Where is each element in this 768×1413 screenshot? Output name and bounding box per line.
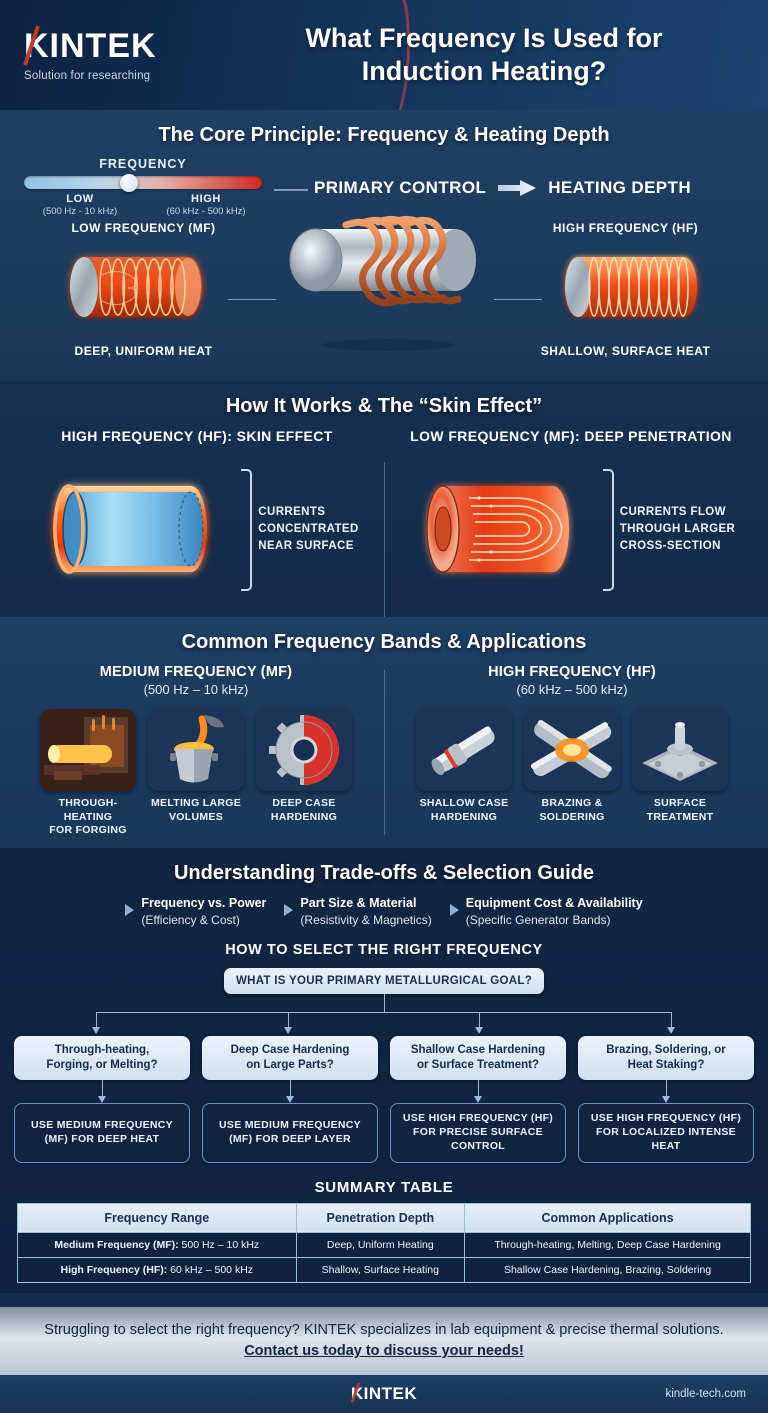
hf-brace-icon (241, 469, 252, 591)
section-frequency-bands: Common Frequency Bands & Applications ME… (0, 617, 768, 848)
table-cell-frequency-range: High Frequency (HF): 60 kHz – 500 kHz (18, 1257, 297, 1282)
low-frequency-billet-icon (56, 235, 231, 335)
decision-answer-node[interactable]: USE MEDIUM FREQUENCY (MF) FOR DEEP HEAT (14, 1103, 190, 1163)
tradeoff-item: Part Size & Material (Resistivity & Magn… (284, 895, 431, 928)
tile-caption: BRAZING & SOLDERING (524, 797, 620, 824)
table-col-common-applications: Common Applications (465, 1203, 751, 1232)
hf-cylinder-icon (35, 462, 235, 597)
frequency-slider-knob[interactable] (120, 174, 138, 192)
frequency-slider-endlabels: LOW (500 Hz - 10 kHz) HIGH (60 kHz - 500… (18, 193, 268, 217)
decision-arrow-cell (390, 1080, 566, 1097)
coil-illustration-row: LOW FREQUENCY (MF) (0, 221, 768, 371)
table-cell-depth: Shallow, Surface Heating (296, 1257, 465, 1282)
tradeoff-sub: (Efficiency & Cost) (141, 912, 266, 928)
induction-coil-icon (268, 207, 500, 357)
table-cell-frequency-range: Medium Frequency (MF): 500 Hz – 10 kHz (18, 1232, 297, 1257)
tree-drop-arrow (288, 1013, 289, 1028)
tree-drop-arrow (96, 1013, 97, 1028)
tile-caption: DEEP CASE HARDENING (256, 797, 352, 824)
skin-effect-mf-body: CURRENTS FLOW THROUGH LARGER CROSS-SECTI… (384, 452, 758, 607)
band-mf: MEDIUM FREQUENCY (MF) (500 Hz – 10 kHz) (8, 664, 384, 838)
decision-arrow-row (14, 1080, 754, 1097)
down-arrow-icon (290, 1080, 291, 1097)
heating-depth-label: HEATING DEPTH (548, 178, 691, 198)
tile-shallow-case-hardening[interactable]: SHALLOW CASE HARDENING (416, 709, 512, 824)
tile-caption: SURFACE TREATMENT (632, 797, 728, 824)
tradeoff-sub: (Resistivity & Magnetics) (300, 912, 431, 928)
page-title-line1: What Frequency Is Used for (305, 23, 662, 53)
page-title-line2: Induction Heating? (362, 56, 606, 86)
bands-title: Common Frequency Bands & Applications (0, 631, 768, 654)
tradeoff-title: Frequency vs. Power (141, 895, 266, 912)
cta-banner: Struggling to select the right frequency… (0, 1307, 768, 1375)
primary-control-label: PRIMARY CONTROL (314, 178, 486, 198)
skin-effect-hf-body: CURRENTS CONCENTRATED NEAR SURFACE (10, 452, 384, 607)
frequency-low-end: LOW (500 Hz - 10 kHz) (20, 193, 140, 217)
brazing-joint-icon (524, 709, 620, 791)
skin-effect-title: How It Works & The “Skin Effect” (0, 395, 768, 418)
section-skin-effect: How It Works & The “Skin Effect” HIGH FR… (0, 381, 768, 617)
decision-answer-node[interactable]: USE HIGH FREQUENCY (HF) FOR LOCALIZED IN… (578, 1103, 754, 1163)
coil-link-line-right (494, 299, 542, 300)
decision-arrow-cell (202, 1080, 378, 1097)
surface-treatment-part-icon (632, 709, 728, 791)
logo-tagline: Solution for researching (24, 70, 224, 82)
band-hf-range: (60 kHz – 500 kHz) (384, 682, 760, 697)
control-connector-line (274, 189, 308, 191)
tradeoff-item: Equipment Cost & Availability (Specific … (450, 895, 643, 928)
shaft-hardening-icon (416, 709, 512, 791)
decision-answer-node[interactable]: USE MEDIUM FREQUENCY (MF) FOR DEEP LAYER (202, 1103, 378, 1163)
tile-brazing-soldering[interactable]: BRAZING & SOLDERING (524, 709, 620, 824)
decision-question-node[interactable]: Through-heating, Forging, or Melting? (14, 1036, 190, 1080)
tile-deep-case-hardening[interactable]: DEEP CASE HARDENING (256, 709, 352, 838)
decision-question-row: Through-heating, Forging, or Melting? De… (14, 1036, 754, 1080)
forging-furnace-icon (40, 709, 136, 791)
frequency-low-range: (500 Hz - 10 kHz) (20, 206, 140, 217)
section-core-principle: The Core Principle: Frequency & Heating … (0, 110, 768, 381)
molten-metal-pour-icon (148, 709, 244, 791)
high-frequency-billet: HIGH FREQUENCY (HF) (538, 221, 713, 358)
tile-surface-treatment[interactable]: SURFACE TREATMENT (632, 709, 728, 824)
decision-answer-row: USE MEDIUM FREQUENCY (MF) FOR DEEP HEAT … (14, 1103, 754, 1163)
row-label: High Frequency (HF): (60, 1264, 167, 1276)
bands-row: MEDIUM FREQUENCY (MF) (500 Hz – 10 kHz) (0, 664, 768, 838)
tradeoff-title: Part Size & Material (300, 895, 431, 912)
table-cell-apps: Shallow Case Hardening, Brazing, Solderi… (465, 1257, 751, 1282)
band-mf-range: (500 Hz – 10 kHz) (8, 682, 384, 697)
footer-logo-red-slash-icon (350, 1382, 361, 1403)
skin-effect-hf-column: HIGH FREQUENCY (HF): SKIN EFFECT (10, 428, 384, 607)
cta-link[interactable]: Contact us today to discuss your needs! (244, 1343, 524, 1359)
decision-arrow-cell (14, 1080, 190, 1097)
row-label: Medium Frequency (MF): (54, 1239, 178, 1251)
high-frequency-billet-caption: SHALLOW, SURFACE HEAT (538, 344, 713, 358)
decision-answer-node[interactable]: USE HIGH FREQUENCY (HF) FOR PRECISE SURF… (390, 1103, 566, 1163)
band-hf-tiles: SHALLOW CASE HARDENING BR (384, 709, 760, 824)
decision-question-node[interactable]: Deep Case Hardening on Large Parts? (202, 1036, 378, 1080)
bands-divider (384, 670, 385, 835)
page-footer: KINTEK kindle-tech.com (0, 1375, 768, 1413)
low-frequency-billet-caption: DEEP, UNIFORM HEAT (56, 344, 231, 358)
frequency-high-label: HIGH (146, 193, 266, 205)
table-col-frequency-range: Frequency Range (18, 1203, 297, 1232)
tile-melting[interactable]: MELTING LARGE VOLUMES (148, 709, 244, 838)
tradeoff-item: Frequency vs. Power (Efficiency & Cost) (125, 895, 266, 928)
decision-arrow-cell (578, 1080, 754, 1097)
table-cell-apps: Through-heating, Melting, Deep Case Hard… (465, 1232, 751, 1257)
frequency-high-range: (60 kHz - 500 kHz) (146, 206, 266, 217)
band-mf-tiles: THROUGH-HEATING FOR FORGING (8, 709, 384, 838)
high-frequency-billet-label: HIGH FREQUENCY (HF) (538, 221, 713, 235)
brand-logo: KINTEK Solution for researching (0, 29, 224, 82)
footer-url[interactable]: kindle-tech.com (665, 1388, 746, 1400)
page-title: What Frequency Is Used for Induction Hea… (224, 22, 768, 88)
tree-drop-arrow (479, 1013, 480, 1028)
skin-effect-hf-heading: HIGH FREQUENCY (HF): SKIN EFFECT (10, 428, 384, 444)
table-cell-depth: Deep, Uniform Heating (296, 1232, 465, 1257)
tradeoff-sub: (Specific Generator Bands) (466, 912, 643, 928)
summary-table: Frequency Range Penetration Depth Common… (17, 1203, 751, 1283)
mf-cylinder-icon (407, 462, 597, 597)
footer-logo: KINTEK (351, 1384, 417, 1404)
howto-select-title: HOW TO SELECT THE RIGHT FREQUENCY (0, 942, 768, 958)
band-mf-heading: MEDIUM FREQUENCY (MF) (8, 664, 384, 680)
row-range: 500 Hz – 10 kHz (179, 1239, 260, 1251)
triangle-bullet-icon (284, 904, 293, 916)
skin-effect-mf-column: LOW FREQUENCY (MF): DEEP PENETRATION (384, 428, 758, 607)
core-principle-title: The Core Principle: Frequency & Heating … (0, 124, 768, 147)
tree-trunk-line (384, 994, 385, 1012)
summary-table-title: SUMMARY TABLE (0, 1179, 768, 1196)
down-arrow-icon (666, 1080, 667, 1097)
gear-icon (256, 709, 352, 791)
cta-text: Struggling to select the right frequency… (44, 1322, 723, 1338)
tradeoffs-title: Understanding Trade-offs & Selection Gui… (0, 862, 768, 885)
table-row: Medium Frequency (MF): 500 Hz – 10 kHz D… (18, 1232, 751, 1257)
tile-through-heating[interactable]: THROUGH-HEATING FOR FORGING (40, 709, 136, 838)
row-range: 60 kHz – 500 kHz (167, 1264, 253, 1276)
band-hf-heading: HIGH FREQUENCY (HF) (384, 664, 760, 680)
triangle-bullet-icon (450, 904, 459, 916)
low-frequency-billet-label: LOW FREQUENCY (MF) (56, 221, 231, 235)
table-row: High Frequency (HF): 60 kHz – 500 kHz Sh… (18, 1257, 751, 1282)
skin-effect-row: HIGH FREQUENCY (HF): SKIN EFFECT (0, 428, 768, 607)
decision-question-node[interactable]: Shallow Case Hardening or Surface Treatm… (390, 1036, 566, 1080)
tile-caption: SHALLOW CASE HARDENING (416, 797, 512, 824)
table-header-row: Frequency Range Penetration Depth Common… (18, 1203, 751, 1232)
page-header: KINTEK Solution for researching What Fre… (0, 0, 768, 110)
decision-root-node[interactable]: WHAT IS YOUR PRIMARY METALLURGICAL GOAL? (224, 968, 544, 994)
skin-effect-mf-heading: LOW FREQUENCY (MF): DEEP PENETRATION (384, 428, 758, 444)
tree-drop-lines (96, 1013, 672, 1028)
section-tradeoffs-selection: Understanding Trade-offs & Selection Gui… (0, 848, 768, 1293)
down-arrow-icon (102, 1080, 103, 1097)
high-frequency-billet-icon (538, 235, 713, 335)
frequency-low-label: LOW (20, 193, 140, 205)
frequency-slider-label: FREQUENCY (18, 157, 268, 171)
table-col-penetration-depth: Penetration Depth (296, 1203, 465, 1232)
low-frequency-billet: LOW FREQUENCY (MF) (56, 221, 231, 358)
frequency-high-end: HIGH (60 kHz - 500 kHz) (146, 193, 266, 217)
decision-tree: WHAT IS YOUR PRIMARY METALLURGICAL GOAL?… (0, 968, 768, 1163)
frequency-slider-group: FREQUENCY LOW (500 Hz - 10 kHz) HIGH (60… (18, 157, 268, 217)
frequency-slider[interactable] (24, 176, 262, 189)
logo-text: KINTEK (24, 27, 157, 65)
tile-caption: THROUGH-HEATING FOR FORGING (40, 797, 136, 838)
induction-coil-illustration (268, 207, 500, 362)
tradeoffs-list: Frequency vs. Power (Efficiency & Cost) … (0, 895, 768, 928)
skin-effect-hf-note: CURRENTS CONCENTRATED NEAR SURFACE (258, 504, 358, 554)
mf-brace-icon (603, 469, 614, 591)
decision-question-node[interactable]: Brazing, Soldering, or Heat Staking? (578, 1036, 754, 1080)
right-arrow-icon (498, 180, 536, 196)
tile-caption: MELTING LARGE VOLUMES (148, 797, 244, 824)
band-hf: HIGH FREQUENCY (HF) (60 kHz – 500 kHz) (384, 664, 760, 838)
logo-text-wrap: KINTEK (24, 29, 157, 63)
tradeoff-title: Equipment Cost & Availability (466, 895, 643, 912)
down-arrow-icon (478, 1080, 479, 1097)
triangle-bullet-icon (125, 904, 134, 916)
tree-drop-arrow (671, 1013, 672, 1028)
infographic-page: KINTEK Solution for researching What Fre… (0, 0, 768, 1376)
skin-effect-mf-note: CURRENTS FLOW THROUGH LARGER CROSS-SECTI… (620, 504, 736, 554)
